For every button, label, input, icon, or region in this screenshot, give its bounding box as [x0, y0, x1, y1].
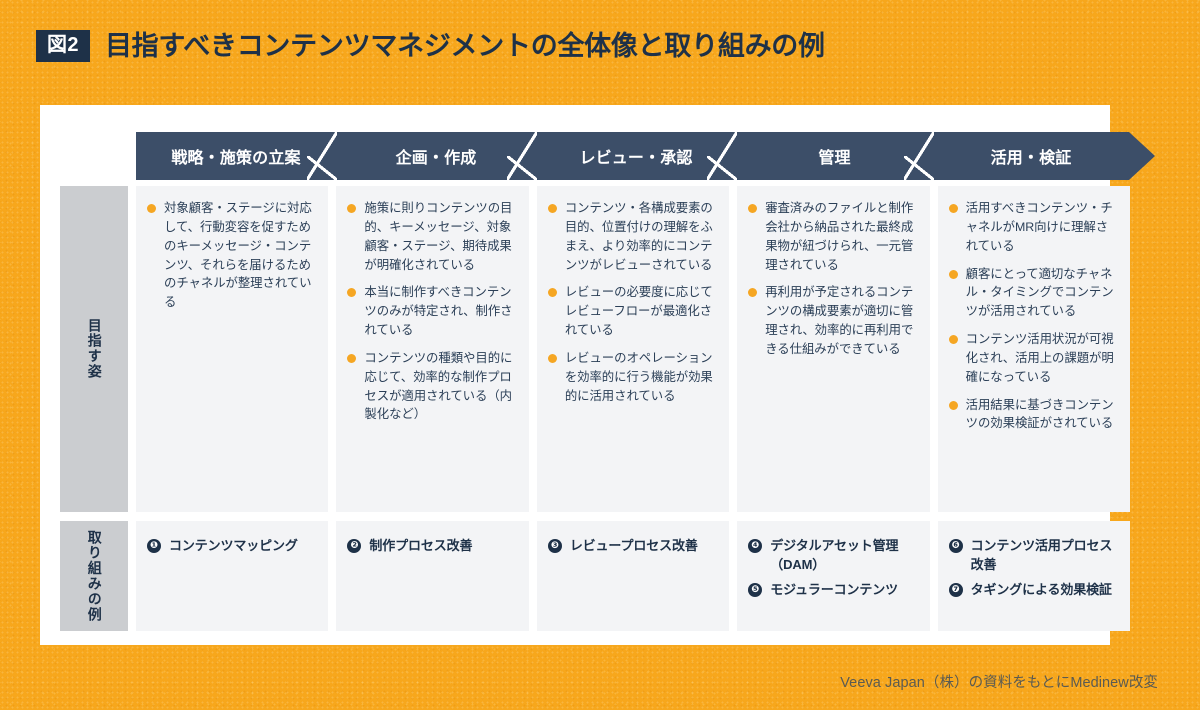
number-badge-icon: ❺	[748, 583, 762, 597]
list-item-label: デジタルアセット管理（DAM）	[770, 538, 898, 572]
cell-r1c1: 対象顧客・ステージに対応して、行動変容を促すためのキーメッセージ・コンテンツ、そ…	[136, 186, 328, 512]
list-item: 本当に制作すべきコンテンツのみが特定され、制作されている	[347, 283, 515, 340]
number-badge-icon: ❹	[748, 539, 762, 553]
list-item: 施策に則りコンテンツの目的、キーメッセージ、対象顧客・ステージ、期待成果が明確化…	[347, 199, 515, 274]
stage-header-3: レビュー・承認	[536, 132, 736, 180]
list-item-label: コンテンツマッピング	[169, 538, 298, 553]
source-credit: Veeva Japan（株）の資料をもとにMedinew改変	[840, 671, 1158, 692]
stage-header-1: 戦略・施策の立案	[136, 132, 336, 180]
stage-header-3-label: レビュー・承認	[579, 144, 692, 168]
list-item: ❹ デジタルアセット管理（DAM）	[748, 537, 916, 575]
list-item: 活用結果に基づきコンテンツの効果検証がされている	[949, 396, 1117, 434]
bullet-list-r1c2: 施策に則りコンテンツの目的、キーメッセージ、対象顧客・ステージ、期待成果が明確化…	[347, 199, 515, 424]
matrix-body: 目指す姿 対象顧客・ステージに対応して、行動変容を促すためのキーメッセージ・コン…	[60, 186, 1130, 631]
list-item: ❻ コンテンツ活用プロセス改善	[949, 537, 1117, 575]
figure-title: 目指すべきコンテンツマネジメントの全体像と取り組みの例	[105, 33, 825, 60]
stage-header-1-label: 戦略・施策の立案	[171, 144, 300, 168]
row-label-initiatives: 取り組みの例	[60, 521, 128, 631]
list-item: 審査済みのファイルと制作会社から納品された最終成果物が紐づけられ、一元管理されて…	[748, 199, 916, 274]
arrow-tip-icon	[1129, 132, 1155, 180]
list-item: ❺ モジュラーコンテンツ	[748, 581, 916, 600]
figure-number-badge: 図2	[36, 30, 90, 62]
list-item: ❼ タギングによる効果検証	[949, 581, 1117, 600]
list-item: 対象顧客・ステージに対応して、行動変容を促すためのキーメッセージ・コンテンツ、そ…	[147, 199, 315, 312]
stage-header-band: 戦略・施策の立案 企画・作成 レビュー・承認 管理 活用・検証	[136, 132, 1155, 180]
bullet-list-r1c1: 対象顧客・ステージに対応して、行動変容を促すためのキーメッセージ・コンテンツ、そ…	[147, 199, 315, 312]
row-label-target-state-text: 目指す姿	[85, 318, 103, 380]
figure-canvas: 図2 目指すべきコンテンツマネジメントの全体像と取り組みの例 戦略・施策の立案 …	[0, 0, 1200, 710]
list-item-label: 制作プロセス改善	[369, 538, 472, 553]
cell-r1c5: 活用すべきコンテンツ・チャネルがMR向けに理解されている 顧客にとって適切なチャ…	[938, 186, 1130, 512]
list-item: コンテンツ・各構成要素の目的、位置付けの理解をふまえ、より効率的にコンテンツがレ…	[548, 199, 716, 274]
numbered-list-r2c4: ❹ デジタルアセット管理（DAM） ❺ モジュラーコンテンツ	[748, 537, 916, 600]
cell-r2c5: ❻ コンテンツ活用プロセス改善 ❼ タギングによる効果検証	[938, 521, 1130, 631]
matrix-row-target-state: 目指す姿 対象顧客・ステージに対応して、行動変容を促すためのキーメッセージ・コン…	[60, 186, 1130, 512]
list-item: 再利用が予定されるコンテンツの構成要素が適切に管理され、効率的に再利用できる仕組…	[748, 283, 916, 358]
row-label-initiatives-text: 取り組みの例	[85, 530, 103, 622]
list-item-label: タギングによる効果検証	[971, 582, 1112, 597]
cell-r2c3: ❸ レビュープロセス改善	[537, 521, 729, 631]
stage-header-2: 企画・作成	[336, 132, 536, 180]
list-item-label: レビュープロセス改善	[570, 538, 698, 553]
row-label-target-state: 目指す姿	[60, 186, 128, 512]
number-badge-icon: ❼	[949, 583, 963, 597]
list-item: 活用すべきコンテンツ・チャネルがMR向けに理解されている	[949, 199, 1117, 256]
list-item-label: コンテンツ活用プロセス改善	[971, 538, 1113, 572]
list-item: ❸ レビュープロセス改善	[548, 537, 716, 556]
numbered-list-r2c1: ❶ コンテンツマッピング	[147, 537, 315, 556]
numbered-list-r2c3: ❸ レビュープロセス改善	[548, 537, 716, 556]
list-item: ❷ 制作プロセス改善	[347, 537, 515, 556]
number-badge-icon: ❻	[949, 539, 963, 553]
stage-header-5: 活用・検証	[933, 132, 1129, 180]
cell-r1c2: 施策に則りコンテンツの目的、キーメッセージ、対象顧客・ステージ、期待成果が明確化…	[336, 186, 528, 512]
numbered-list-r2c5: ❻ コンテンツ活用プロセス改善 ❼ タギングによる効果検証	[949, 537, 1117, 600]
number-badge-icon: ❷	[347, 539, 361, 553]
list-item: レビューのオペレーションを効率的に行う機能が効果的に活用されている	[548, 349, 716, 406]
list-item: 顧客にとって適切なチャネル・タイミングでコンテンツが活用されている	[949, 265, 1117, 322]
stage-header-2-label: 企画・作成	[396, 144, 477, 168]
bullet-list-r1c4: 審査済みのファイルと制作会社から納品された最終成果物が紐づけられ、一元管理されて…	[748, 199, 916, 359]
list-item: レビューの必要度に応じてレビューフローが最適化されている	[548, 283, 716, 340]
cell-r2c1: ❶ コンテンツマッピング	[136, 521, 328, 631]
figure-titlebar: 図2 目指すべきコンテンツマネジメントの全体像と取り組みの例	[36, 30, 825, 62]
number-badge-icon: ❶	[147, 539, 161, 553]
list-item: ❶ コンテンツマッピング	[147, 537, 315, 556]
bullet-list-r1c5: 活用すべきコンテンツ・チャネルがMR向けに理解されている 顧客にとって適切なチャ…	[949, 199, 1117, 433]
stage-header-4-label: 管理	[818, 144, 850, 168]
matrix-row-initiatives: 取り組みの例 ❶ コンテンツマッピング ❷ 制作プロセス改善	[60, 521, 1130, 631]
numbered-list-r2c2: ❷ 制作プロセス改善	[347, 537, 515, 556]
cell-r2c4: ❹ デジタルアセット管理（DAM） ❺ モジュラーコンテンツ	[737, 521, 929, 631]
list-item: コンテンツの種類や目的に応じて、効率的な制作プロセスが適用されている（内製化など…	[347, 349, 515, 424]
cell-r1c4: 審査済みのファイルと制作会社から納品された最終成果物が紐づけられ、一元管理されて…	[737, 186, 929, 512]
bullet-list-r1c3: コンテンツ・各構成要素の目的、位置付けの理解をふまえ、より効率的にコンテンツがレ…	[548, 199, 716, 405]
list-item: コンテンツ活用状況が可視化され、活用上の課題が明確になっている	[949, 330, 1117, 387]
stage-header-4: 管理	[736, 132, 933, 180]
list-item-label: モジュラーコンテンツ	[770, 582, 898, 597]
number-badge-icon: ❸	[548, 539, 562, 553]
stage-header-5-label: 活用・検証	[991, 144, 1072, 168]
cell-r2c2: ❷ 制作プロセス改善	[336, 521, 528, 631]
cell-r1c3: コンテンツ・各構成要素の目的、位置付けの理解をふまえ、より効率的にコンテンツがレ…	[537, 186, 729, 512]
